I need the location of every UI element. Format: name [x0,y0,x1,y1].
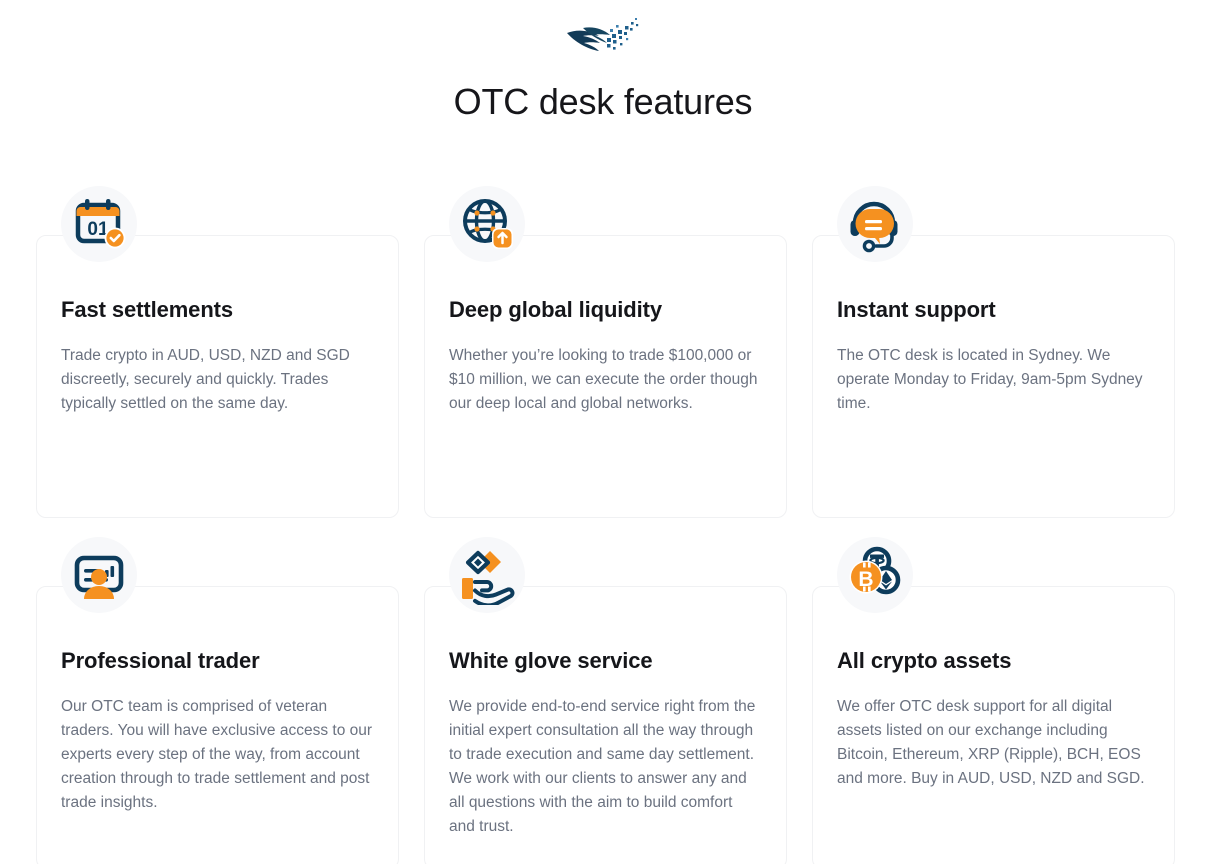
card-body: Trade crypto in AUD, USD, NZD and SGD di… [61,344,374,416]
feature-card-instant-support[interactable]: Instant support The OTC desk is located … [812,235,1175,518]
card-title: Fast settlements [61,296,374,324]
globe-network-upload-icon [457,194,517,254]
card-title: Deep global liquidity [449,296,762,324]
trader-monitor-person-icon [69,545,129,605]
card-body: Our OTC team is comprised of veteran tra… [61,695,374,815]
card-icon-wrap [449,537,525,613]
card-body: We provide end-to-end service right from… [449,695,762,839]
crypto-coins-icon: B [845,545,905,605]
card-body: Whether you’re looking to trade $100,000… [449,344,762,416]
hand-holding-diamonds-icon [457,545,517,605]
page-title: OTC desk features [0,80,1206,124]
headset-chat-support-icon [845,194,905,254]
svg-text:B: B [858,568,873,591]
card-icon-wrap [61,537,137,613]
card-icon-wrap [449,186,525,262]
feature-card-white-glove-service[interactable]: White glove service We provide end-to-en… [424,586,787,864]
card-title: Instant support [837,296,1150,324]
card-title: All crypto assets [837,647,1150,675]
card-title: Professional trader [61,647,374,675]
feature-card-deep-global-liquidity[interactable]: Deep global liquidity Whether you’re loo… [424,235,787,518]
card-icon-wrap: 01 [61,186,137,262]
feature-card-all-crypto-assets[interactable]: B All crypto assets We offer OTC desk su… [812,586,1175,864]
brand-logo[interactable] [0,14,1206,62]
wing-pixel-logo-icon [563,16,643,60]
card-icon-wrap: B [837,537,913,613]
calendar-check-icon: 01 [69,194,129,254]
feature-card-professional-trader[interactable]: Professional trader Our OTC team is comp… [36,586,399,864]
card-title: White glove service [449,647,762,675]
otc-desk-features-page: OTC desk features 01 Fast settlements Tr… [0,0,1206,864]
feature-card-fast-settlements[interactable]: 01 Fast settlements Trade crypto in AUD,… [36,235,399,518]
features-grid: 01 Fast settlements Trade crypto in AUD,… [36,235,1179,864]
card-body: The OTC desk is located in Sydney. We op… [837,344,1150,416]
card-body: We offer OTC desk support for all digita… [837,695,1150,791]
card-icon-wrap [837,186,913,262]
